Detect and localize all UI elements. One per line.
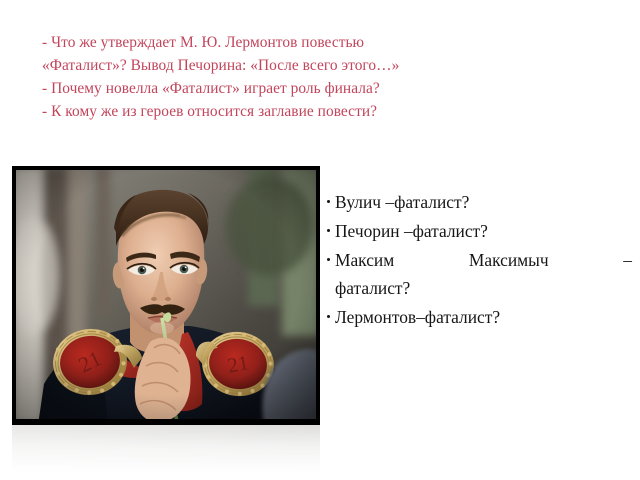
slide-canvas: - Что же утверждает М. Ю. Лермонтов пове… (0, 0, 640, 480)
bullet-dot-icon (327, 258, 330, 261)
film-still-reflection (12, 425, 320, 473)
film-still-image: 21 (12, 166, 320, 425)
title-line-4: - К кому же из героев относится заглавие… (42, 100, 608, 123)
list-item: Максим Максимыч – фаталист? (327, 246, 632, 302)
list-item-label: Печорин –фаталист? (335, 217, 632, 245)
bullet-dot-icon (327, 200, 330, 203)
bullet-dot-icon (327, 229, 330, 232)
slide-title-block: - Что же утверждает М. Ю. Лермонтов пове… (42, 31, 608, 123)
list-item-label: Максим Максимыч – (335, 246, 632, 274)
bullet-list: Вулич –фаталист? Печорин –фаталист? Макс… (327, 188, 632, 332)
title-line-2: «Фаталист»? Вывод Печорина: «После всего… (42, 54, 608, 77)
bullet-dot-icon (327, 315, 330, 318)
list-item: Печорин –фаталист? (327, 217, 632, 245)
title-line-1: - Что же утверждает М. Ю. Лермонтов пове… (42, 31, 608, 54)
photo-frame: 21 (12, 166, 320, 425)
list-item-label: Лермонтов–фаталист? (335, 303, 632, 331)
list-item-label: Вулич –фаталист? (335, 188, 632, 216)
photo-reflection (12, 425, 320, 473)
list-item: Лермонтов–фаталист? (327, 303, 632, 331)
photo-container: 21 (12, 166, 320, 425)
list-item: Вулич –фаталист? (327, 188, 632, 216)
list-item-label-continued: фаталист? (335, 274, 632, 302)
title-line-3: - Почему новелла «Фаталист» играет роль … (42, 77, 608, 100)
